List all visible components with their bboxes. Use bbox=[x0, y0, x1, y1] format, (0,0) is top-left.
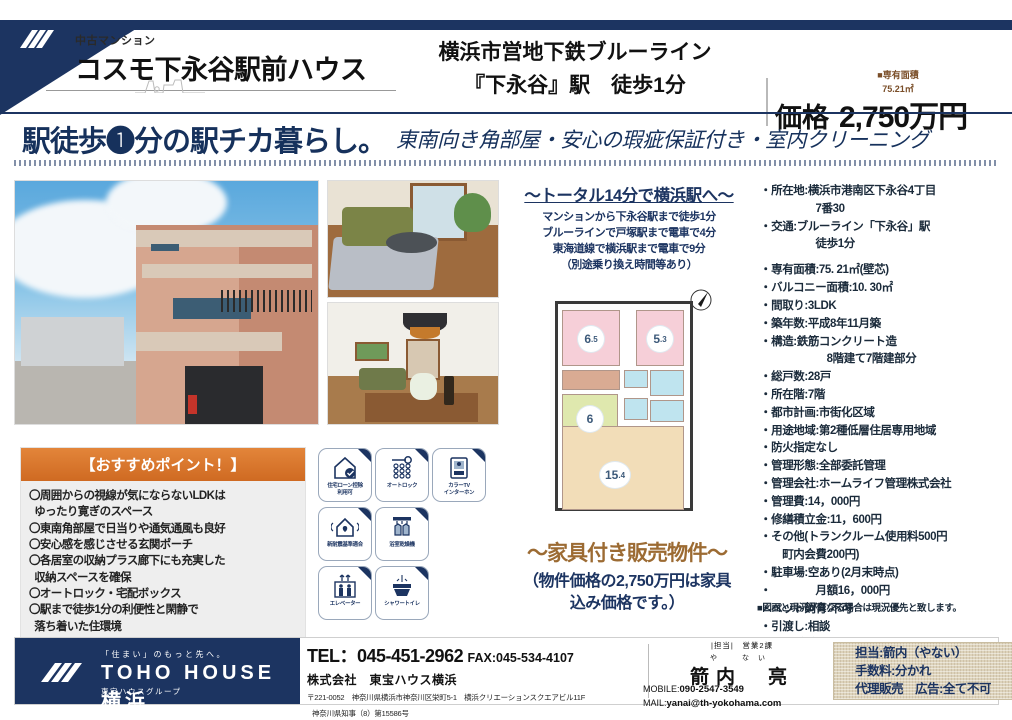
corner-marker bbox=[358, 508, 371, 521]
spec-item: ・バルコニー面積:10. 30㎡ bbox=[760, 280, 1010, 298]
spec-item: ・駐車場:空あり(2月末時点) bbox=[760, 565, 1010, 583]
company-license: 神奈川県知事（8）第15586号 bbox=[307, 708, 642, 719]
feature-shower-toilet: シャワートイレ bbox=[375, 566, 429, 620]
point-item: ゆったり寛ぎのスペース bbox=[29, 504, 297, 520]
wave-divider bbox=[14, 160, 999, 166]
station-info: 横浜市営地下鉄ブルーライン 『下永谷』駅 徒歩1分 bbox=[390, 36, 760, 99]
corner-marker bbox=[358, 567, 371, 580]
points-heading: 【おすすめポイント！】 bbox=[21, 448, 305, 481]
feature-auto-lock: オートロック bbox=[375, 448, 429, 502]
mail-label: MAIL: bbox=[643, 698, 667, 708]
room-storage bbox=[650, 400, 684, 422]
dining-room-photo bbox=[327, 302, 499, 425]
tagline-banner: 駅徒歩❶分の駅チカ暮らし。 東南向き角部屋・安心の瑕疵保証付き・室内クリーニング bbox=[0, 118, 1012, 160]
feature-house-check: 住宅ローン控除 利用可 bbox=[318, 448, 372, 502]
intercom-monitor-icon bbox=[446, 453, 472, 483]
shower-toilet-icon bbox=[388, 571, 416, 601]
agent-email[interactable]: yanai@th-yokohama.com bbox=[667, 698, 782, 709]
company-name: 株式会社 東宝ハウス横浜 bbox=[307, 671, 642, 688]
spec-spacer bbox=[760, 254, 1010, 262]
laundry-dryer-icon bbox=[388, 512, 416, 542]
transit-title: ～トータル14分で横浜駅へ～ bbox=[498, 182, 760, 206]
station-walk: 『下永谷』駅 徒歩1分 bbox=[390, 69, 760, 99]
feature-label: 浴室乾燥機 bbox=[387, 542, 416, 549]
furniture-included-note: ～家具付き販売物件～ （物件価格の2,750万円は家具 込み価格です。） bbox=[487, 537, 767, 614]
page-title: コスモ下永谷駅前ハウス bbox=[75, 48, 367, 87]
point-item: 〇オートロック・宅配ボックス bbox=[29, 586, 297, 602]
room-bath bbox=[650, 370, 684, 396]
spec-item: ・管理形態:全部委託管理 bbox=[760, 458, 1010, 476]
feature-label: 新耐震基準適合 bbox=[325, 542, 365, 549]
spec-item: ・構造:鉄筋コンクリート造 bbox=[760, 334, 1010, 352]
point-item: 〇各居室の収納プラス廊下にも充実した bbox=[29, 553, 297, 569]
room-size-2: 5.3 bbox=[647, 326, 673, 352]
feature-intercom: カラーTV インターホン bbox=[432, 448, 486, 502]
company-contact-block: TEL：045-451-2962 FAX:045-534-4107 株式会社 東… bbox=[307, 642, 642, 719]
spec-item: ・管理費:14，000円 bbox=[760, 494, 1010, 512]
spec-item: 7番30 bbox=[760, 201, 1010, 219]
agent-mobile[interactable]: 090-2547-3549 bbox=[680, 684, 744, 695]
spec-item: ・用途地域:第2種低層住居専用地域 bbox=[760, 423, 1010, 441]
header: 中古マンション コスモ下永谷駅前ハウス 横浜市営地下鉄ブルーライン 『下永谷』駅… bbox=[0, 30, 1012, 112]
mobile-label: MOBILE: bbox=[643, 684, 680, 694]
flyer-page: 中古マンション コスモ下永谷駅前ハウス 横浜市営地下鉄ブルーライン 『下永谷』駅… bbox=[0, 0, 1012, 720]
soundproof-house-icon bbox=[331, 512, 359, 542]
tagline-main: 駅徒歩❶分の駅チカ暮らし。 bbox=[22, 118, 386, 160]
feature-label: エレベーター bbox=[328, 601, 363, 608]
transit-summary: ～トータル14分で横浜駅へ～ マンションから下永谷駅まで徒歩1分 ブルーラインで… bbox=[498, 182, 760, 274]
spec-item: ・都市計画:市街化区域 bbox=[760, 405, 1010, 423]
company-logo-block: 「住まい」のもっと先へ。 TOHO HOUSE 横浜 東宝ハウスグループ bbox=[15, 638, 300, 704]
room-corridor-a bbox=[562, 370, 620, 390]
exclusive-area-label: ■専有面積 bbox=[843, 68, 953, 81]
spec-item: 8階建て7階建部分 bbox=[760, 351, 1010, 369]
living-room-photo bbox=[327, 180, 499, 298]
room-toilet bbox=[624, 398, 648, 420]
feature-label: オートロック bbox=[385, 483, 420, 490]
corner-marker bbox=[415, 449, 428, 462]
agent-block: |担当| 営業2課 や ない 箭内 亮 bbox=[657, 640, 827, 689]
recommended-points-box: 【おすすめポイント！】 〇周囲からの視線が気にならないLDKは ゆったり寛ぎのス… bbox=[20, 447, 306, 644]
agent-contact: MOBILE:090-2547-3549 MAIL:yanai@th-yokoh… bbox=[643, 683, 833, 711]
spec-item: ・引渡し:相談 bbox=[760, 619, 1010, 637]
spec-item: ・築年数:平成8年11月築 bbox=[760, 316, 1010, 334]
spec-item: ・専有面積:75. 21㎡(壁芯) bbox=[760, 262, 1010, 280]
feature-icon-grid: 住宅ローン控除 利用可 オートロック bbox=[318, 448, 486, 620]
point-item: 〇周囲からの視線が気にならないLDKは bbox=[29, 488, 297, 504]
elevator-icon bbox=[331, 571, 359, 601]
spec-item: ・ 月額16，000円 bbox=[760, 583, 1010, 601]
title-underline bbox=[46, 90, 396, 91]
footer: 「住まい」のもっと先へ。 TOHO HOUSE 横浜 東宝ハウスグループ TEL… bbox=[14, 637, 999, 705]
room-size-4: 15.4 bbox=[600, 462, 630, 488]
spec-item: ・管理会社:ホームライフ管理株式会社 bbox=[760, 476, 1010, 494]
spec-item: ・総戸数:28戸 bbox=[760, 369, 1010, 387]
spec-item: ・その他(トランクルーム使用料500円 bbox=[760, 529, 1010, 547]
points-list: 〇周囲からの視線が気にならないLDKは ゆったり寛ぎのスペース 〇東南角部屋で日… bbox=[21, 481, 305, 643]
agent-note-box: 担当:箭内（やない） 手数料:分かれ 代理販売 広告:全て不可 bbox=[833, 642, 1012, 700]
spec-item: ・間取り:3LDK bbox=[760, 298, 1010, 316]
agent-role: |担当| 営業2課 bbox=[657, 640, 827, 651]
exclusive-area-badge: ■専有面積 75.21㎡ bbox=[843, 68, 953, 95]
train-line-name: 横浜市営地下鉄ブルーライン bbox=[390, 36, 760, 66]
company-fax: FAX:045-534-4107 bbox=[468, 651, 574, 665]
property-spec-list: ・所在地:横浜市港南区下永谷4丁目 7番30 ・交通:ブルーライン「下永谷」駅 … bbox=[760, 183, 1010, 654]
spec-item: 徒歩1分 bbox=[760, 236, 1010, 254]
spec-item: ・所在階:7階 bbox=[760, 387, 1010, 405]
feature-bath-dryer: 浴室乾燥機 bbox=[375, 507, 429, 561]
floorplan-outline: 6.5 5.3 6 15.4 bbox=[555, 301, 693, 511]
tagline-sub: 東南向き角部屋・安心の瑕疵保証付き・室内クリーニング bbox=[396, 124, 929, 154]
spec-item: 町内会費200円) bbox=[760, 547, 1010, 565]
floorplan: 6.5 5.3 6 15.4 bbox=[545, 283, 720, 521]
keypad-lock-icon bbox=[388, 453, 416, 483]
feature-label: 住宅ローン控除 利用可 bbox=[325, 483, 364, 497]
brand-tagline: 「住まい」のもっと先へ。 bbox=[101, 649, 227, 660]
exterior-photo bbox=[14, 180, 319, 425]
transit-lines: マンションから下永谷駅まで徒歩1分 ブルーラインで戸塚駅まで電車で4分 東海道線… bbox=[498, 210, 760, 274]
company-tel[interactable]: TEL：045-451-2962 bbox=[307, 646, 463, 666]
point-item: 収納スペースを確保 bbox=[29, 570, 297, 586]
corner-marker bbox=[415, 567, 428, 580]
header-rule bbox=[0, 112, 1012, 114]
spec-item: ・交通:ブルーライン「下永谷」駅 bbox=[760, 219, 1010, 237]
furniture-title: ～家具付き販売物件～ bbox=[487, 537, 767, 567]
top-navy-bar bbox=[0, 20, 1012, 30]
toho-house-mark-icon bbox=[39, 658, 85, 688]
room-size-1: 6.5 bbox=[578, 326, 604, 352]
feature-elevator: エレベーター bbox=[318, 566, 372, 620]
company-address: 〒221-0052 神奈川県横浜市神奈川区栄町5-1 横浜クリエーションスクエア… bbox=[307, 692, 642, 703]
corner-marker bbox=[358, 449, 371, 462]
spec-item: ・防火指定なし bbox=[760, 440, 1010, 458]
furniture-note: （物件価格の2,750万円は家具 込み価格です。） bbox=[487, 571, 767, 614]
point-item: 〇東南角部屋で日当りや通気通風も良好 bbox=[29, 521, 297, 537]
point-item: 〇安心感を感じさせる玄関ポーチ bbox=[29, 537, 297, 553]
room-size-3: 6 bbox=[577, 406, 603, 432]
corner-marker bbox=[472, 449, 485, 462]
feature-earthquake-standard: 新耐震基準適合 bbox=[318, 507, 372, 561]
feature-label: シャワートイレ bbox=[382, 601, 422, 608]
skyline-icon bbox=[135, 77, 205, 93]
brand-group: 東宝ハウスグループ bbox=[101, 686, 182, 697]
corner-marker bbox=[415, 508, 428, 521]
house-check-icon bbox=[331, 453, 359, 483]
disclaimer-note: ■図面と現況が異なる場合は現況優先と致します。 bbox=[757, 600, 1012, 614]
point-item: 〇駅まで徒歩1分の利便性と閑静で bbox=[29, 602, 297, 618]
point-item: 落ち着いた住環境 bbox=[29, 619, 297, 635]
property-kind: 中古マンション bbox=[75, 32, 156, 48]
feature-grid-spacer bbox=[432, 507, 486, 561]
room-washbasin bbox=[624, 370, 648, 388]
feature-label: カラーTV インターホン bbox=[442, 483, 477, 497]
spec-item: ・所在地:横浜市港南区下永谷4丁目 bbox=[760, 183, 1010, 201]
spec-item: ・修繕積立金:11，600円 bbox=[760, 512, 1010, 530]
